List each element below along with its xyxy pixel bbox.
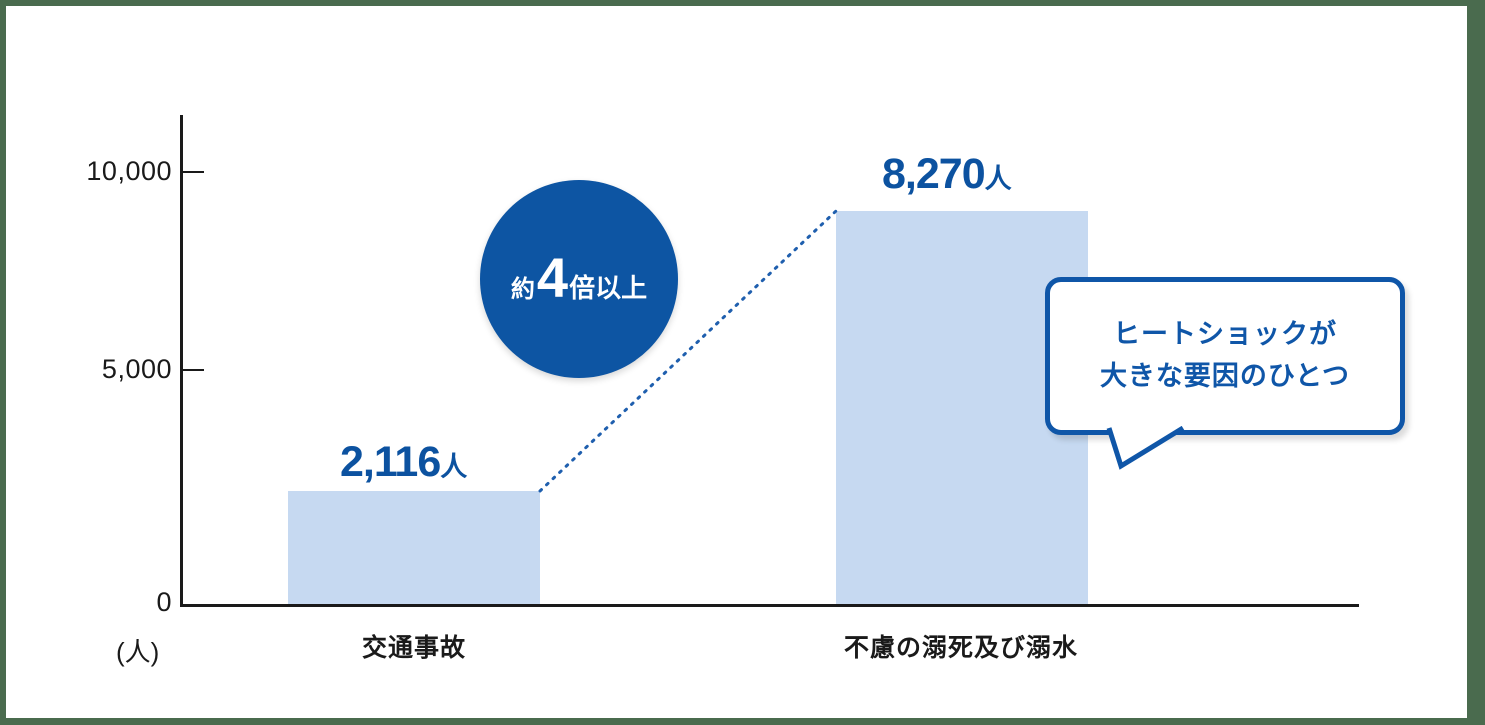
y-tick-5000 (183, 369, 204, 371)
y-tick-label-0: 0 (52, 587, 172, 618)
callout-bubble-line-2: 大きな要因のひとつ (1100, 356, 1350, 398)
y-tick-10000 (183, 171, 204, 173)
y-tick-label-10000: 10,000 (52, 156, 172, 187)
x-axis-label-accidental-drowning: 不慮の溺死及び溺水 (796, 628, 1126, 664)
bar-value-suffix: 人 (985, 164, 1012, 194)
callout-bubble-line-1: ヒートショックが (1113, 314, 1337, 356)
ratio-badge-text: 約4倍以上 (511, 253, 647, 305)
bar-value-label-traffic-accidents: 2,116人 (340, 438, 467, 487)
bar-value-suffix: 人 (440, 452, 467, 482)
y-axis-labels: 10,000 5,000 0 (42, 6, 172, 718)
bar-value-label-accidental-drowning: 8,270人 (882, 150, 1012, 199)
ratio-badge-number: 4 (535, 253, 569, 303)
chart-page: 10,000 5,000 0 (人) 2,116人 8,270人 交通事故 不慮… (6, 6, 1467, 718)
ratio-badge: 約4倍以上 (480, 180, 678, 378)
bar-value-number: 8,270 (882, 150, 985, 198)
callout-bubble: ヒートショックが 大きな要因のひとつ (1045, 277, 1405, 435)
x-axis-label-traffic-accidents: 交通事故 (288, 628, 540, 664)
callout-bubble-tail (1091, 426, 1201, 486)
x-axis-line (180, 604, 1359, 607)
bar-value-number: 2,116 (340, 438, 440, 486)
y-axis-line (180, 115, 183, 607)
y-axis-unit-label: (人) (116, 632, 159, 669)
bar-traffic-accidents (288, 491, 540, 604)
y-tick-label-5000: 5,000 (52, 354, 172, 385)
ratio-badge-prefix: 約 (511, 269, 535, 304)
bar-chart: 10,000 5,000 0 (人) 2,116人 8,270人 交通事故 不慮… (6, 6, 1467, 718)
ratio-badge-suffix: 倍以上 (569, 268, 647, 305)
